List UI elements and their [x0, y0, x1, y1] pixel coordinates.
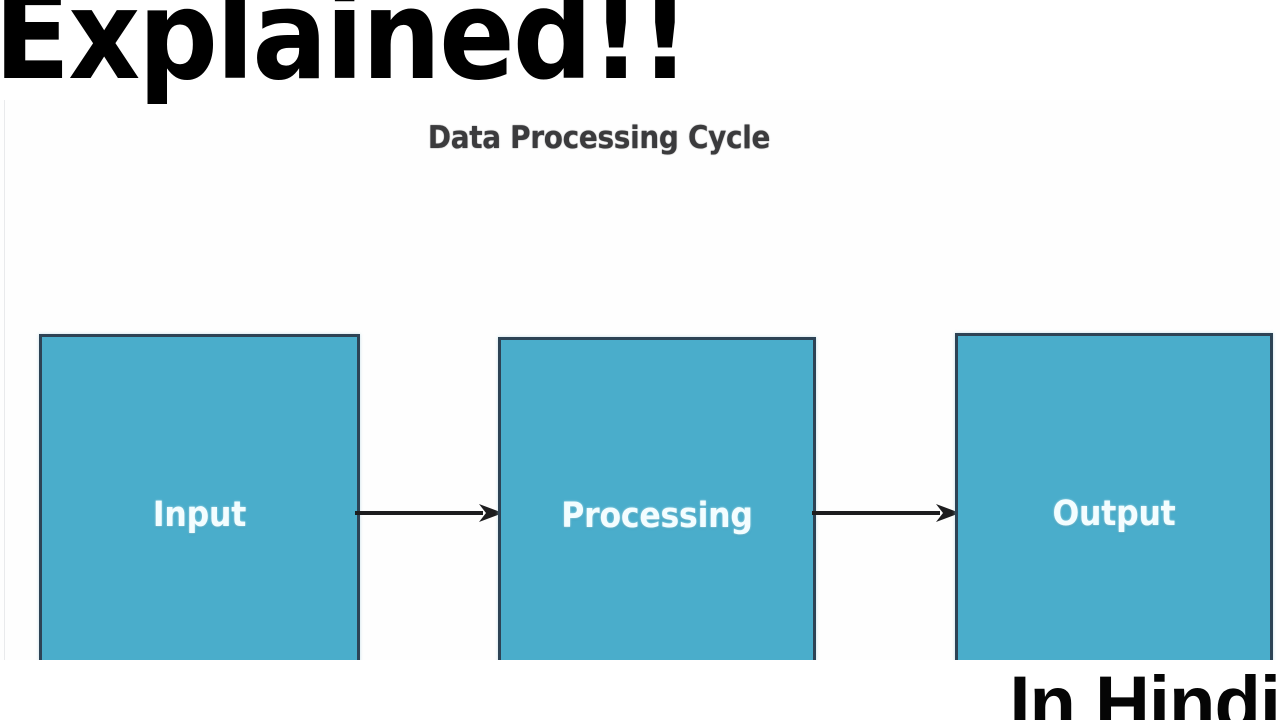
overlay-title: Explained!! — [0, 0, 688, 98]
process-node-output: Output — [955, 333, 1273, 660]
process-node-label: Input — [153, 495, 246, 535]
thumbnail-canvas: Data Processing Cycle Input Processing O… — [0, 0, 1280, 720]
arrow-processing-to-output — [812, 502, 960, 524]
process-node-label: Output — [1052, 494, 1175, 534]
arrow-input-to-processing — [355, 502, 503, 524]
process-node-processing: Processing — [498, 337, 816, 660]
process-node-label: Processing — [561, 496, 753, 536]
process-node-input: Input — [39, 334, 360, 660]
overlay-subtitle: In Hindi — [1009, 666, 1280, 720]
diagram-title: Data Processing Cycle — [0, 120, 1280, 156]
data-processing-cycle-diagram: Data Processing Cycle Input Processing O… — [0, 100, 1280, 660]
